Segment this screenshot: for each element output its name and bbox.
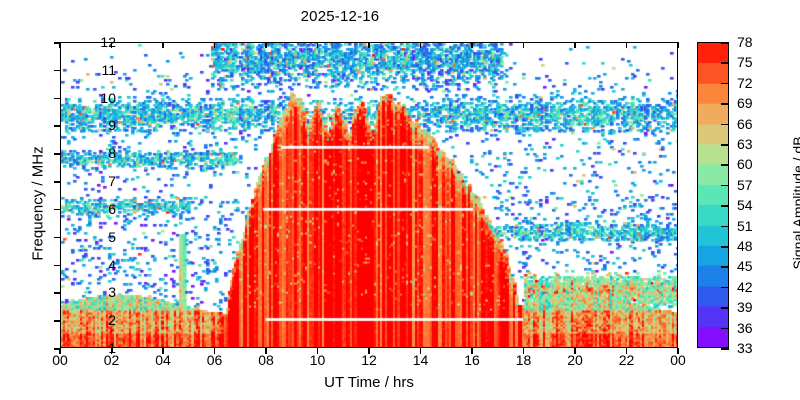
colorbar-tick-mark xyxy=(721,226,729,228)
colorbar[interactable]: 78757269666360575451484542393633 xyxy=(697,42,731,348)
x-tick-mark xyxy=(59,348,61,354)
y-tick-label: 3 xyxy=(76,284,116,300)
y-tick-label: 7 xyxy=(76,173,116,189)
x-tick-mark xyxy=(523,348,525,354)
colorbar-tick-mark xyxy=(721,103,729,105)
y-tick-label: 4 xyxy=(76,257,116,273)
x-tick-label: 20 xyxy=(567,352,583,368)
y-tick-mark xyxy=(54,209,60,211)
x-tick-mark-top xyxy=(214,42,216,48)
x-tick-mark xyxy=(574,348,576,354)
y-tick-mark xyxy=(54,125,60,127)
x-tick-mark xyxy=(368,348,370,354)
colorbar-tick-mark xyxy=(721,348,729,350)
colorbar-tick-mark xyxy=(721,83,729,85)
y-tick-label: 8 xyxy=(76,145,116,161)
x-tick-mark xyxy=(265,348,267,354)
x-axis-label: UT Time / hrs xyxy=(60,374,678,391)
colorbar-tick-mark xyxy=(721,185,729,187)
y-tick-mark xyxy=(54,98,60,100)
x-tick-mark xyxy=(420,348,422,354)
x-tick-mark-top xyxy=(523,42,525,48)
x-tick-mark xyxy=(626,348,628,354)
colorbar-tick-label: 66 xyxy=(737,116,753,132)
x-tick-label: 12 xyxy=(361,352,377,368)
y-tick-label: 9 xyxy=(76,117,116,133)
colorbar-tick-label: 42 xyxy=(737,279,753,295)
colorbar-tick-label: 57 xyxy=(737,177,753,193)
x-tick-label: 16 xyxy=(464,352,480,368)
y-tick-label: 10 xyxy=(76,90,116,106)
y-axis-label: Frequency / MHz xyxy=(30,104,47,304)
colorbar-tick-label: 75 xyxy=(737,54,753,70)
y-tick-label: 5 xyxy=(76,229,116,245)
x-tick-mark-top xyxy=(626,42,628,48)
colorbar-tick-mark xyxy=(721,205,729,207)
x-tick-label: 18 xyxy=(516,352,532,368)
colorbar-tick-mark xyxy=(721,62,729,64)
colorbar-tick-label: 51 xyxy=(737,218,753,234)
colorbar-tick-label: 45 xyxy=(737,258,753,274)
y-tick-label: 11 xyxy=(76,62,116,78)
colorbar-tick-mark xyxy=(721,328,729,330)
spectrogram-canvas[interactable] xyxy=(61,43,678,348)
x-tick-mark-top xyxy=(265,42,267,48)
x-tick-mark-top xyxy=(59,42,61,48)
colorbar-tick-label: 69 xyxy=(737,95,753,111)
x-tick-mark xyxy=(677,348,679,354)
colorbar-tick-mark xyxy=(721,164,729,166)
colorbar-tick-mark xyxy=(721,266,729,268)
x-tick-label: 10 xyxy=(310,352,326,368)
colorbar-tick-mark xyxy=(721,144,729,146)
x-tick-mark xyxy=(111,348,113,354)
y-tick-mark xyxy=(54,292,60,294)
y-tick-mark xyxy=(54,70,60,72)
y-tick-mark xyxy=(54,153,60,155)
y-tick-label: 6 xyxy=(76,201,116,217)
colorbar-tick-mark xyxy=(721,287,729,289)
colorbar-tick-label: 36 xyxy=(737,320,753,336)
x-tick-label: 00 xyxy=(670,352,686,368)
x-tick-mark-top xyxy=(471,42,473,48)
x-tick-label: 02 xyxy=(104,352,120,368)
y-tick-mark xyxy=(54,320,60,322)
y-tick-mark xyxy=(54,237,60,239)
colorbar-tick-label: 48 xyxy=(737,238,753,254)
x-tick-label: 14 xyxy=(413,352,429,368)
page-title: 2025-12-16 xyxy=(0,8,680,25)
x-tick-label: 04 xyxy=(155,352,171,368)
x-tick-mark xyxy=(317,348,319,354)
colorbar-gradient xyxy=(697,42,729,348)
colorbar-tick-label: 54 xyxy=(737,197,753,213)
y-tick-label: 2 xyxy=(76,312,116,328)
colorbar-tick-label: 39 xyxy=(737,299,753,315)
x-tick-label: 08 xyxy=(258,352,274,368)
x-tick-mark-top xyxy=(677,42,679,48)
x-tick-mark-top xyxy=(162,42,164,48)
colorbar-tick-mark xyxy=(721,246,729,248)
x-tick-mark xyxy=(471,348,473,354)
y-tick-mark xyxy=(54,265,60,267)
x-tick-mark-top xyxy=(420,42,422,48)
x-tick-mark-top xyxy=(111,42,113,48)
x-tick-mark-top xyxy=(317,42,319,48)
x-tick-label: 22 xyxy=(619,352,635,368)
colorbar-tick-mark xyxy=(721,307,729,309)
y-tick-mark xyxy=(54,181,60,183)
x-tick-mark-top xyxy=(574,42,576,48)
x-tick-label: 00 xyxy=(52,352,68,368)
colorbar-tick-label: 60 xyxy=(737,156,753,172)
x-tick-mark-top xyxy=(368,42,370,48)
colorbar-tick-label: 63 xyxy=(737,136,753,152)
colorbar-tick-label: 78 xyxy=(737,34,753,50)
spectrogram-plot[interactable] xyxy=(60,42,678,348)
x-tick-mark xyxy=(214,348,216,354)
colorbar-tick-label: 72 xyxy=(737,75,753,91)
x-tick-label: 06 xyxy=(207,352,223,368)
colorbar-tick-mark xyxy=(721,42,729,44)
colorbar-title: Signal Amplitude / dB xyxy=(790,83,800,323)
x-tick-mark xyxy=(162,348,164,354)
colorbar-tick-mark xyxy=(721,124,729,126)
colorbar-tick-label: 33 xyxy=(737,340,753,356)
